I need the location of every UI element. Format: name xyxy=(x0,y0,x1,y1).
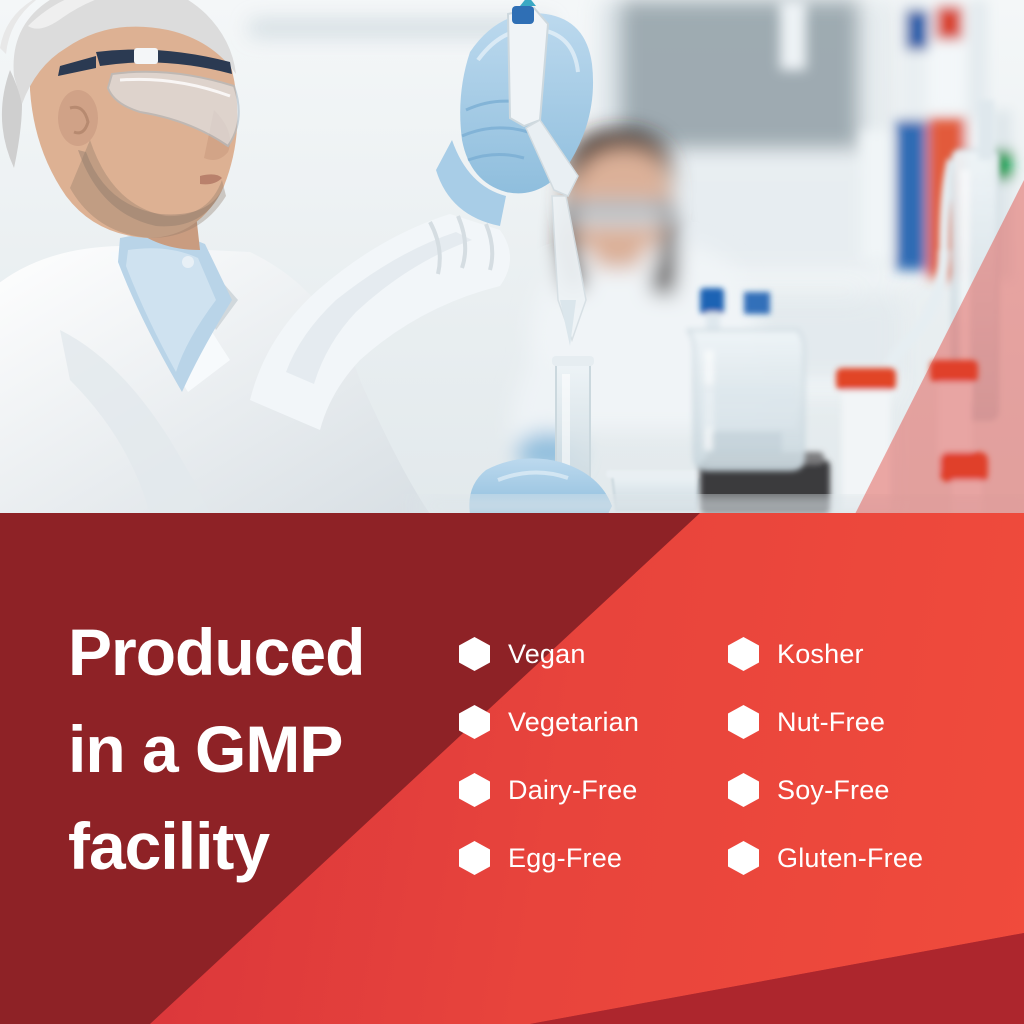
list-item-label: Nut-Free xyxy=(777,707,885,738)
hexagon-bullet-icon xyxy=(459,705,490,739)
hexagon-bullet-icon xyxy=(459,841,490,875)
list-item-label: Egg-Free xyxy=(508,843,622,874)
page-title: Produced in a GMP facility xyxy=(68,604,428,895)
list-item: Gluten-Free xyxy=(728,824,923,892)
list-item: Vegan xyxy=(459,620,639,688)
list-item: Vegetarian xyxy=(459,688,639,756)
promo-graphic: Produced in a GMP facility Vegan Vegetar… xyxy=(0,0,1024,1024)
claims-column-two: Kosher Nut-Free Soy-Free Gluten-Free xyxy=(728,620,923,892)
list-item: Egg-Free xyxy=(459,824,639,892)
list-item-label: Vegetarian xyxy=(508,707,639,738)
list-item: Soy-Free xyxy=(728,756,923,824)
hexagon-bullet-icon xyxy=(728,773,759,807)
list-item-label: Gluten-Free xyxy=(777,843,923,874)
list-item-label: Kosher xyxy=(777,639,864,670)
list-item: Dairy-Free xyxy=(459,756,639,824)
list-item-label: Soy-Free xyxy=(777,775,890,806)
list-item: Kosher xyxy=(728,620,923,688)
list-item: Nut-Free xyxy=(728,688,923,756)
list-item-label: Dairy-Free xyxy=(508,775,638,806)
hexagon-bullet-icon xyxy=(459,637,490,671)
hexagon-bullet-icon xyxy=(728,841,759,875)
hexagon-bullet-icon xyxy=(728,705,759,739)
hexagon-bullet-icon xyxy=(459,773,490,807)
claims-column-one: Vegan Vegetarian Dairy-Free Egg-Free xyxy=(459,620,639,892)
lab-photo xyxy=(0,0,1024,514)
list-item-label: Vegan xyxy=(508,639,586,670)
hexagon-bullet-icon xyxy=(728,637,759,671)
